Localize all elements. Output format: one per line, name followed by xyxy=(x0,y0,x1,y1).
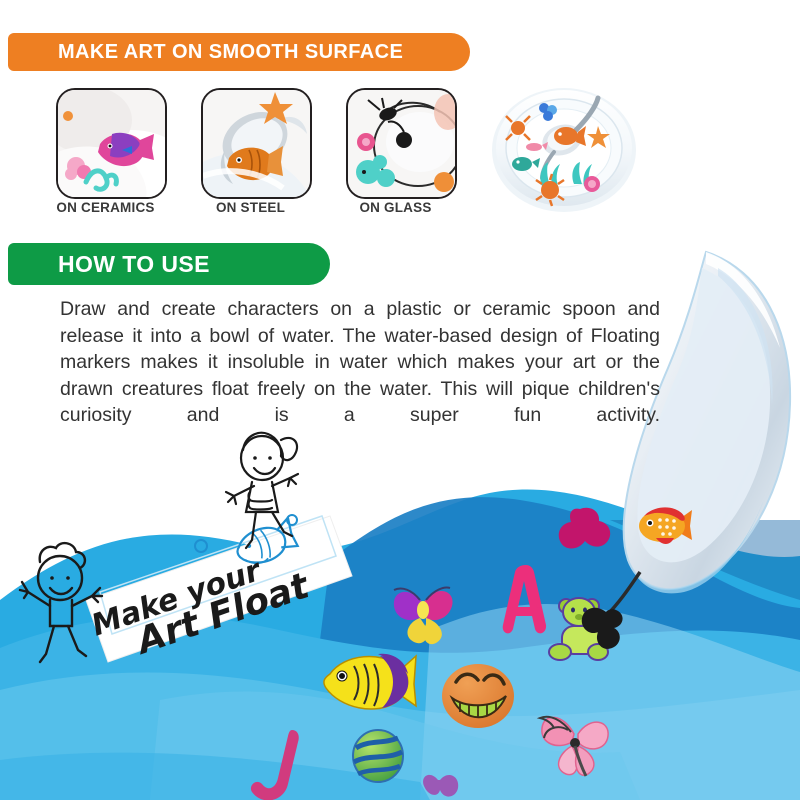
surface-thumbnails: ON CERAMICS ON STEEL ON GLASS xyxy=(56,88,476,223)
bubble-doodle xyxy=(287,515,297,525)
hero-bowl-of-water xyxy=(484,78,644,218)
floater-magenta-blob xyxy=(559,508,610,549)
sign-line-2: Art Float xyxy=(129,565,316,663)
fish-doodle xyxy=(232,518,299,570)
floater-pink-butterfly xyxy=(540,717,608,776)
floater-purple-butterfly xyxy=(394,588,453,645)
floater-yellow-fish xyxy=(324,654,416,709)
sign-line-1: Make your xyxy=(87,552,267,643)
floater-letter-j xyxy=(251,730,299,800)
water-waves xyxy=(0,489,800,800)
floater-green-teddy-bear xyxy=(549,598,608,660)
floater-purple-blob xyxy=(423,775,458,797)
thumbnail-caption-glass: ON GLASS xyxy=(342,200,449,215)
thumbnail-on-ceramics xyxy=(56,88,167,199)
floater-green-striped-ball xyxy=(353,730,403,782)
sign-text: Make your Art Float xyxy=(87,539,316,674)
thumbnail-on-steel xyxy=(201,88,312,199)
make-your-art-float-sign: Make your Art Float xyxy=(86,515,352,675)
product-infographic: Make your Art Float xyxy=(0,0,800,800)
orange-fish-on-spoon xyxy=(639,507,692,544)
boy-doodle xyxy=(20,543,102,662)
thumbnail-caption-ceramics: ON CERAMICS xyxy=(52,200,159,215)
howto-body-text: Draw and create characters on a plastic … xyxy=(60,296,660,455)
thumbnail-caption-steel: ON STEEL xyxy=(197,200,304,215)
bubble-doodle xyxy=(195,540,207,552)
floater-orange-smiley-face xyxy=(442,664,514,728)
howto-banner-label: HOW TO USE xyxy=(58,251,210,278)
surface-banner-label: MAKE ART ON SMOOTH SURFACE xyxy=(58,41,403,64)
surface-banner: MAKE ART ON SMOOTH SURFACE xyxy=(8,33,470,71)
howto-banner: HOW TO USE xyxy=(8,243,330,285)
floater-letter-a xyxy=(503,565,546,633)
thumbnail-on-glass xyxy=(346,88,457,199)
